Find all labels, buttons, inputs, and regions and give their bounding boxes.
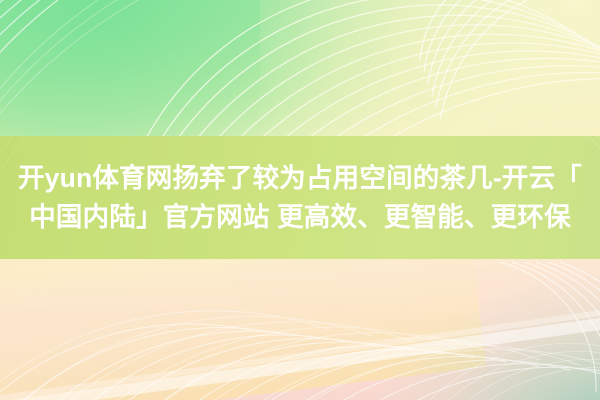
title-banner-strip: 开yun体育网扬弃了较为占用空间的茶几-开云「 中国内陆」官方网站 更高效、更智…: [0, 136, 600, 259]
banner-title-line-1: 开yun体育网扬弃了较为占用空间的茶几-开云「: [18, 160, 582, 196]
banner-title-block: 开yun体育网扬弃了较为占用空间的茶几-开云「 中国内陆」官方网站 更高效、更智…: [0, 136, 600, 259]
banner-title-line-2: 中国内陆」官方网站 更高效、更智能、更环保: [29, 199, 571, 235]
cover-image-canvas: 开yun体育网扬弃了较为占用空间的茶几-开云「 中国内陆」官方网站 更高效、更智…: [0, 0, 600, 400]
background-teal-glow: [370, 260, 600, 400]
